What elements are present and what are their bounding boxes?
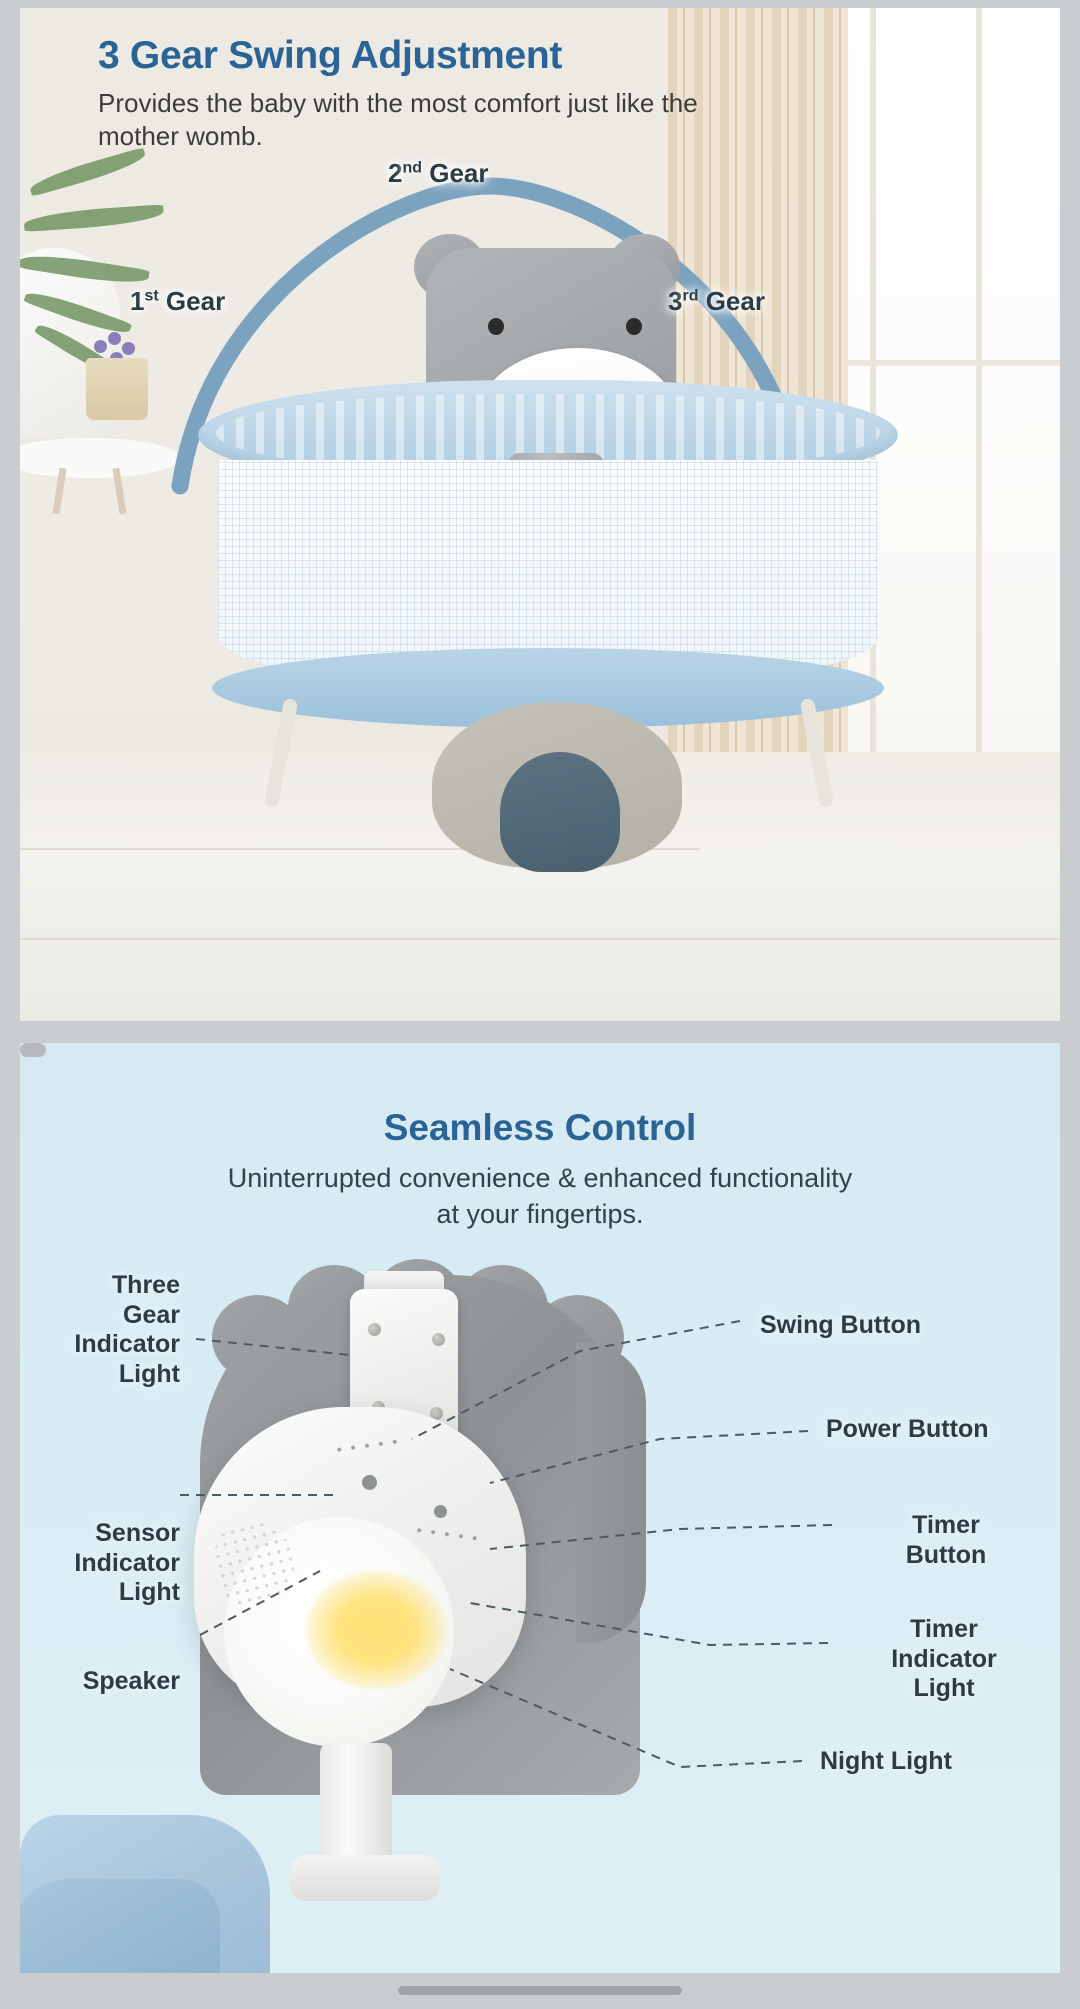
blanket-fold (20, 1879, 220, 1973)
callout-speaker: Speaker (20, 1667, 180, 1697)
callout-night-light: Night Light (820, 1747, 1040, 1777)
page-subtitle: Provides the baby with the most comfort … (98, 87, 698, 154)
bear-foot-inner (500, 752, 620, 872)
section-title: Seamless Control (20, 1107, 1060, 1149)
callout-three-gear-indicator-light: Three Gear Indicator Light (20, 1271, 180, 1389)
gear-3-word: Gear (698, 286, 765, 316)
floor-seam (20, 938, 1060, 940)
callout-sensor-indicator-light: Sensor Indicator Light (20, 1519, 180, 1608)
screw (368, 1323, 381, 1336)
callout-timer-button: Timer Button (856, 1511, 1036, 1570)
section-subtitle: Uninterrupted convenience & enhanced fun… (20, 1161, 1060, 1233)
gear-1-word: Gear (159, 286, 226, 316)
home-indicator-bar[interactable] (398, 1986, 682, 1995)
gear-3-number: 3 (668, 286, 682, 316)
bassinet-illustration (170, 228, 930, 868)
bassinet-leg-left (264, 698, 299, 809)
gear-1-number: 1 (130, 286, 144, 316)
bassinet-leg-right (800, 698, 835, 809)
console-stand-foot (290, 1855, 440, 1901)
screw (432, 1333, 445, 1346)
power-button[interactable] (362, 1475, 377, 1490)
gear-2-word: Gear (422, 158, 489, 188)
gear-label-second: 2nd Gear (388, 158, 489, 189)
section-subtitle-line-1: Uninterrupted convenience & enhanced fun… (20, 1161, 1060, 1197)
swing-button[interactable] (20, 1043, 46, 1057)
flower-pot (86, 358, 148, 420)
gear-2-ordinal: nd (402, 159, 422, 176)
bear-eye-right (626, 318, 642, 335)
bear-eye-left (488, 318, 504, 335)
product-detail-page: 3 Gear Swing Adjustment Provides the bab… (0, 0, 1080, 2009)
bassinet-mesh (218, 460, 878, 680)
gear-label-first: 1st Gear (130, 286, 225, 317)
night-light-glow (306, 1571, 446, 1689)
callout-swing-button: Swing Button (760, 1311, 1020, 1341)
timer-button[interactable] (434, 1505, 447, 1518)
headboard-edge (576, 1343, 646, 1643)
callout-timer-indicator-light: Timer Indicator Light (852, 1615, 1036, 1704)
gear-3-ordinal: rd (682, 287, 698, 304)
gear-2-number: 2 (388, 158, 402, 188)
gear-label-third: 3rd Gear (668, 286, 765, 317)
page-title: 3 Gear Swing Adjustment (98, 36, 858, 77)
callout-power-button: Power Button (826, 1415, 1060, 1445)
console-stand (320, 1743, 392, 1873)
panel-seamless-control: Seamless Control Uninterrupted convenien… (20, 1043, 1060, 1973)
panel-divider (20, 1021, 1060, 1043)
section-subtitle-line-2: at your fingertips. (20, 1197, 1060, 1233)
gear-1-ordinal: st (144, 287, 158, 304)
gear-heading-block: 3 Gear Swing Adjustment Provides the bab… (98, 36, 858, 153)
panel-gear-swing-adjustment: 3 Gear Swing Adjustment Provides the bab… (20, 8, 1060, 1021)
